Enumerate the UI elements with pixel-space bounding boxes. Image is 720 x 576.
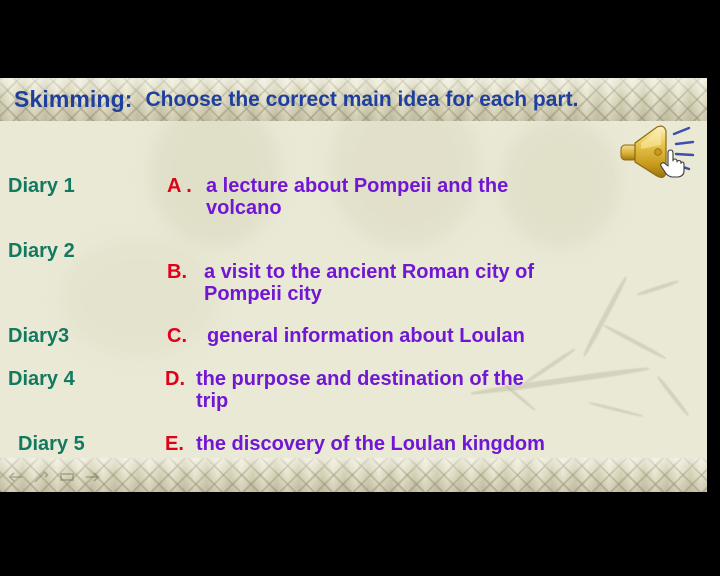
option-letter-b: B. [167, 261, 187, 284]
slideshow-nav-controls[interactable] [6, 466, 106, 488]
decorative-band-bottom [0, 458, 707, 492]
diary-label-2: Diary 2 [8, 240, 75, 263]
option-text-d: the purpose and destination of the trip [196, 368, 524, 412]
diary-label-3: Diary3 [8, 325, 69, 348]
pen-annotate-tool[interactable] [32, 470, 50, 484]
previous-slide-arrow[interactable] [6, 470, 24, 484]
video-frame: Skimming: Choose the correct main idea f… [0, 0, 720, 576]
skimming-label: Skimming: [14, 86, 132, 113]
diary-label-1: Diary 1 [8, 175, 75, 198]
option-letter-c: C. [167, 325, 187, 348]
diary-label-4: Diary 4 [8, 368, 75, 391]
option-letter-d: D. [165, 368, 185, 391]
presentation-slide: Skimming: Choose the correct main idea f… [0, 78, 707, 492]
hand-pointer-cursor [659, 148, 685, 178]
slide-header: Skimming: Choose the correct main idea f… [0, 78, 707, 121]
slide-body: Diary 1 A . a lecture about Pompeii and … [0, 121, 707, 458]
slide-menu-box[interactable] [58, 470, 76, 484]
option-text-c: general information about Loulan [207, 325, 525, 347]
diary-label-5: Diary 5 [18, 433, 85, 456]
speaker-sound-icon[interactable] [617, 121, 701, 183]
header-instruction: Choose the correct main idea for each pa… [145, 88, 578, 112]
option-text-b: a visit to the ancient Roman city of Pom… [204, 261, 534, 305]
option-text-e: the discovery of the Loulan kingdom [196, 433, 545, 455]
option-text-a: a lecture about Pompeii and the volcano [206, 175, 508, 219]
option-letter-a: A . [167, 175, 192, 198]
option-letter-e: E. [165, 433, 184, 456]
next-slide-arrow[interactable] [84, 470, 102, 484]
